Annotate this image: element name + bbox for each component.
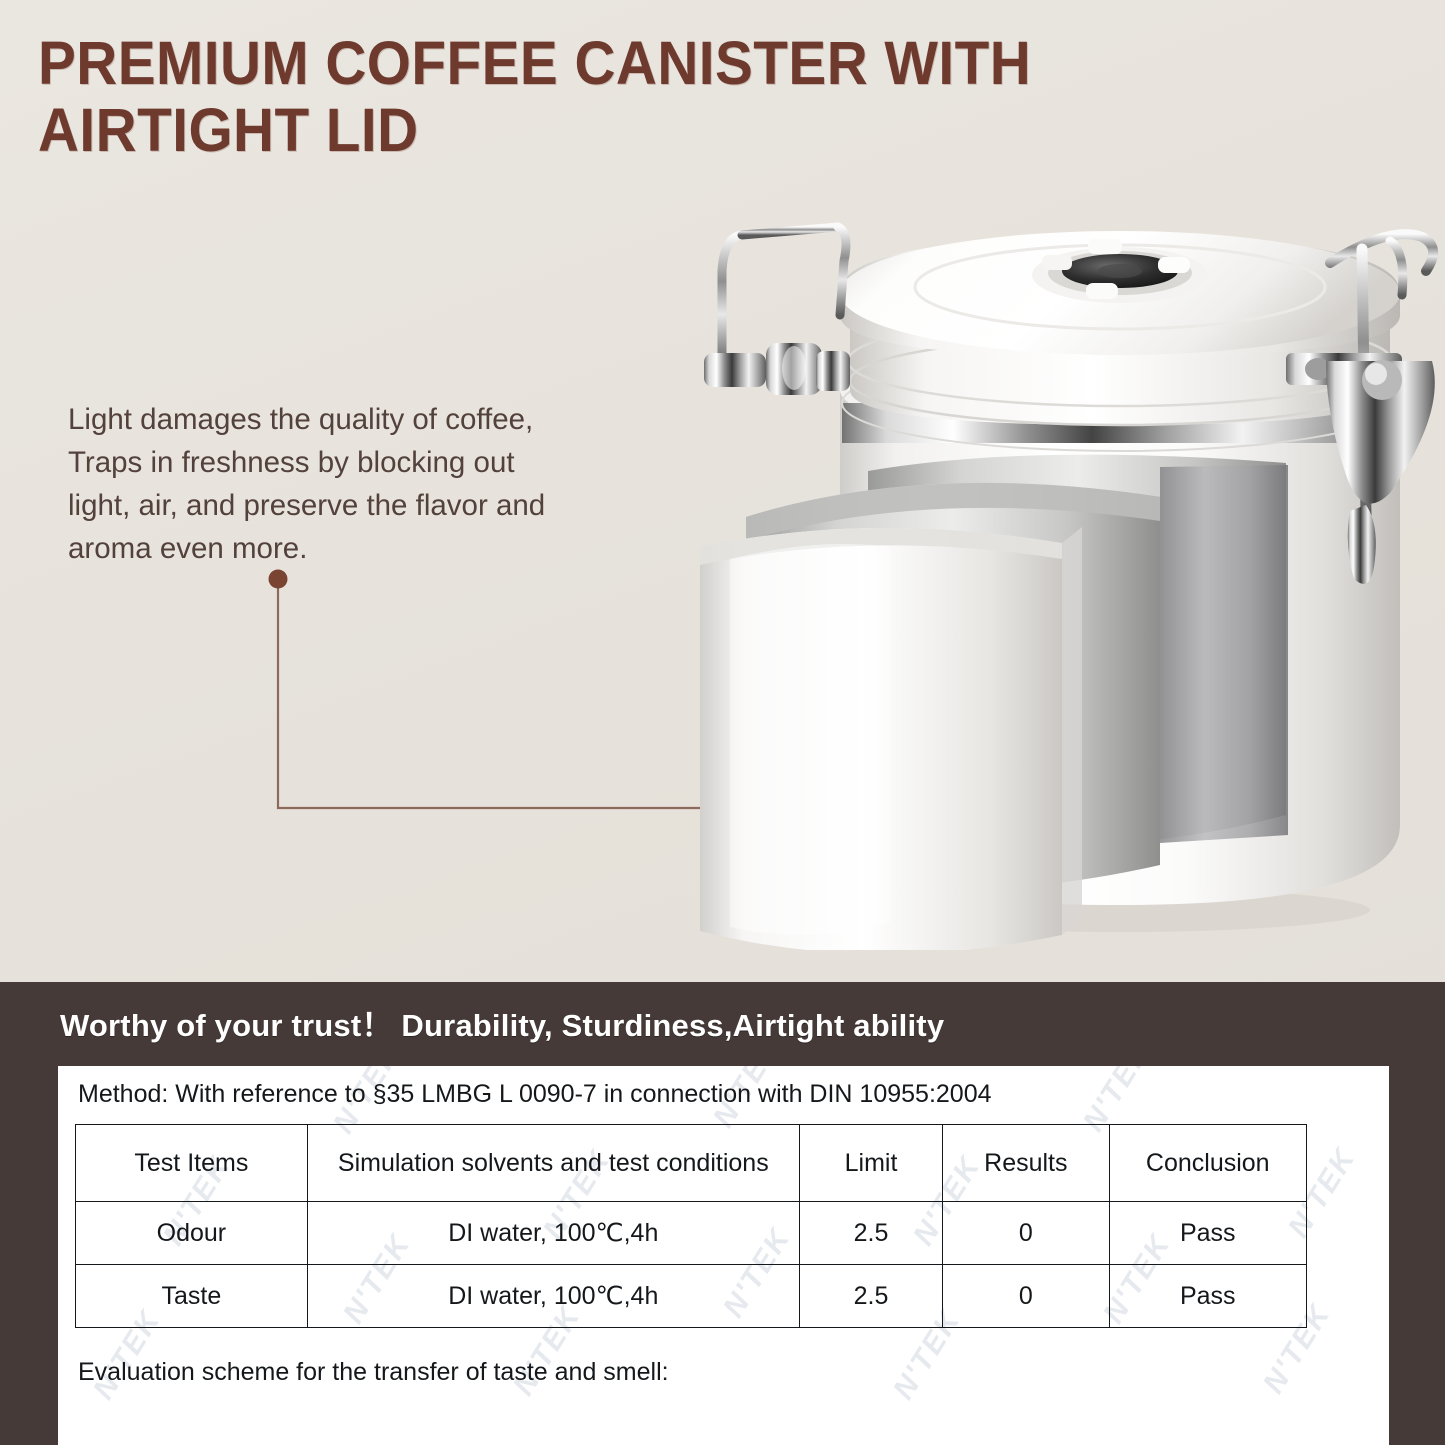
page-title: PREMIUM COFFEE CANISTER WITH AIRTIGHT LI… xyxy=(38,30,1258,164)
cell-conclusion: Pass xyxy=(1109,1265,1306,1328)
table-row: Taste DI water, 100℃,4h 2.5 0 Pass xyxy=(76,1265,1307,1328)
cell-conclusion: Pass xyxy=(1109,1202,1306,1265)
infographic-page: PREMIUM COFFEE CANISTER WITH AIRTIGHT LI… xyxy=(0,0,1445,1445)
column-header-limit: Limit xyxy=(799,1125,942,1202)
valve-tab-right xyxy=(1158,257,1190,273)
cell-test-item: Odour xyxy=(76,1202,308,1265)
test-report-panel: N'TEK N'TEK N'TEK N'TEK N'TEK N'TEK N'TE… xyxy=(58,1066,1389,1445)
feature-line-1: Light damages the quality of coffee, xyxy=(68,398,628,441)
column-header-conclusion: Conclusion xyxy=(1109,1125,1306,1202)
cell-conditions: DI water, 100℃,4h xyxy=(307,1265,799,1328)
cell-results: 0 xyxy=(943,1265,1109,1328)
trust-heading: Worthy of your trust！ Durability, Sturdi… xyxy=(60,1000,1390,1045)
cell-limit: 2.5 xyxy=(799,1202,942,1265)
title-line-2: AIRTIGHT LID xyxy=(38,97,1173,164)
evaluation-note: Evaluation scheme for the transfer of ta… xyxy=(78,1358,669,1387)
method-line: Method: With reference to §35 LMBG L 009… xyxy=(78,1080,992,1109)
cell-limit: 2.5 xyxy=(799,1265,942,1328)
cell-results: 0 xyxy=(943,1202,1109,1265)
valve-tab-left xyxy=(1042,255,1072,270)
column-header-conditions: Simulation solvents and test conditions xyxy=(307,1125,799,1202)
column-header-test-items: Test Items xyxy=(76,1125,308,1202)
feature-description: Light damages the quality of coffee, Tra… xyxy=(68,398,628,570)
callout-dot-text-end xyxy=(269,570,288,589)
valve-tab-bottom xyxy=(1086,283,1118,299)
table-row: Odour DI water, 100℃,4h 2.5 0 Pass xyxy=(76,1202,1307,1265)
cell-conditions: DI water, 100℃,4h xyxy=(307,1202,799,1265)
chrome-clamp-left xyxy=(704,227,850,395)
table-header-row: Test Items Simulation solvents and test … xyxy=(76,1125,1307,1202)
column-header-results: Results xyxy=(943,1125,1109,1202)
valve-tab-top xyxy=(1088,239,1122,254)
product-image xyxy=(690,175,1445,950)
test-results-table: Test Items Simulation solvents and test … xyxy=(75,1124,1307,1328)
feature-line-4: aroma even more. xyxy=(68,527,628,570)
feature-line-2: Traps in freshness by blocking out xyxy=(68,441,628,484)
title-line-1: PREMIUM COFFEE CANISTER WITH xyxy=(38,30,1173,97)
feature-line-3: light, air, and preserve the flavor and xyxy=(68,484,628,527)
cell-test-item: Taste xyxy=(76,1265,308,1328)
